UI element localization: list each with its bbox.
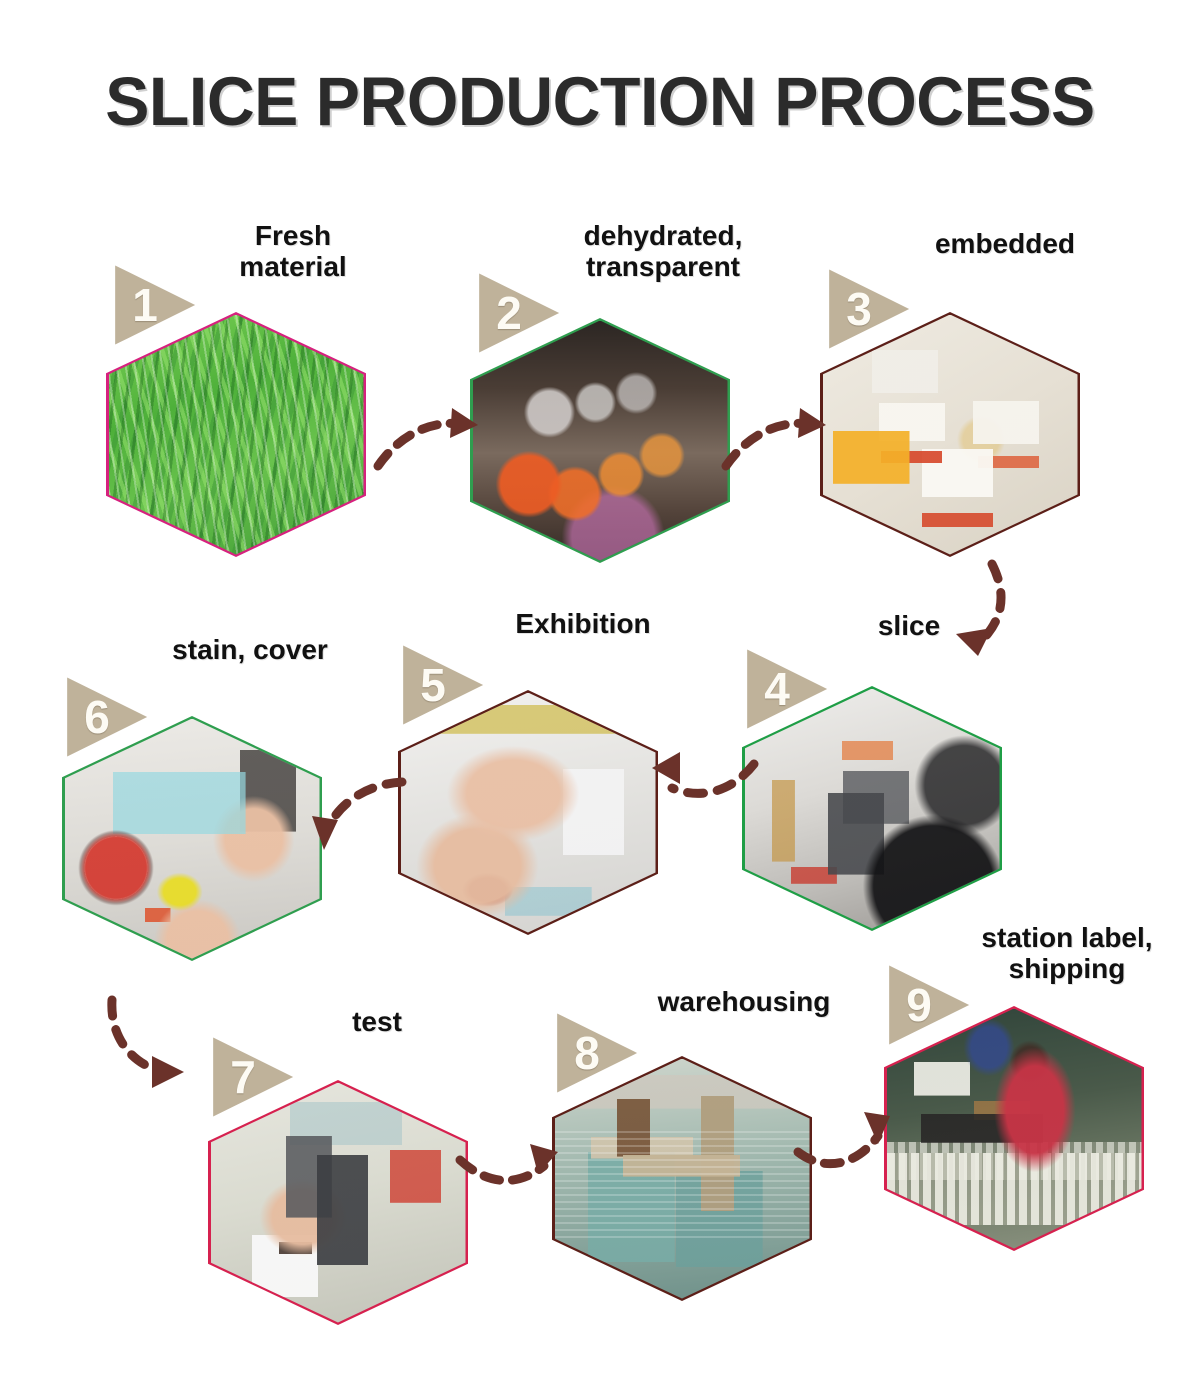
arrow-step8-to-step9 — [790, 1096, 910, 1186]
step-4-caption: slice — [814, 610, 1004, 641]
process-step-6[interactable]: stain, cover 6 — [62, 668, 322, 968]
process-step-2[interactable]: dehydrated, transparent 2 — [470, 270, 730, 570]
step-1-hexagon[interactable] — [106, 312, 366, 557]
step-5-caption: Exhibition — [468, 608, 698, 639]
arrow-step1-to-step2 — [370, 398, 490, 478]
step-6-caption: stain, cover — [120, 634, 380, 665]
step-7-caption: test — [282, 1006, 472, 1037]
step-9-number: 9 — [888, 982, 950, 1028]
step-8-caption: warehousing — [624, 986, 864, 1017]
step-9-caption: station label, shipping — [942, 922, 1192, 985]
step-1-number: 1 — [114, 282, 176, 328]
step-2-photo — [473, 321, 728, 561]
step-4-number: 4 — [746, 666, 808, 712]
step-3-caption: embedded — [890, 228, 1120, 259]
step-6-number: 6 — [66, 694, 128, 740]
step-5-photo — [401, 693, 656, 933]
step-1-number-badge: 1 — [110, 262, 196, 348]
step-8-number-badge: 8 — [552, 1010, 638, 1096]
step-2-number-badge: 2 — [474, 270, 560, 356]
step-5-number-badge: 5 — [398, 642, 484, 728]
step-1-caption: Fresh material — [198, 220, 388, 283]
process-step-8[interactable]: warehousing 8 — [552, 1010, 812, 1310]
step-3-number-badge: 3 — [824, 266, 910, 352]
process-diagram-canvas: SLICE PRODUCTION PROCESS Fresh material … — [0, 0, 1200, 1395]
step-8-number: 8 — [556, 1030, 618, 1076]
step-2-number: 2 — [478, 290, 540, 336]
step-3-number: 3 — [828, 286, 890, 332]
arrow-step5-to-step6 — [296, 766, 416, 866]
step-2-caption: dehydrated, transparent — [548, 220, 778, 283]
page-title: SLICE PRODUCTION PROCESS — [24, 62, 1176, 141]
process-step-7[interactable]: test 7 — [208, 1028, 468, 1328]
process-step-4[interactable]: slice 4 — [742, 638, 1002, 938]
arrow-step6-to-step7 — [76, 986, 206, 1096]
step-4-number-badge: 4 — [742, 646, 828, 732]
arrow-step7-to-step8 — [452, 1126, 572, 1206]
process-step-9[interactable]: station label, shipping 9 — [884, 944, 1144, 1244]
step-5-number: 5 — [402, 662, 464, 708]
arrow-step2-to-step3 — [718, 398, 838, 478]
process-step-3[interactable]: embedded 3 — [820, 262, 1080, 562]
step-6-number-badge: 6 — [62, 674, 148, 760]
process-step-5[interactable]: Exhibition 5 — [398, 638, 658, 938]
arrow-step4-to-step5 — [636, 738, 766, 818]
step-7-number: 7 — [212, 1054, 274, 1100]
step-1-photo — [109, 315, 364, 555]
step-7-number-badge: 7 — [208, 1034, 294, 1120]
process-step-1[interactable]: Fresh material 1 — [106, 256, 366, 556]
